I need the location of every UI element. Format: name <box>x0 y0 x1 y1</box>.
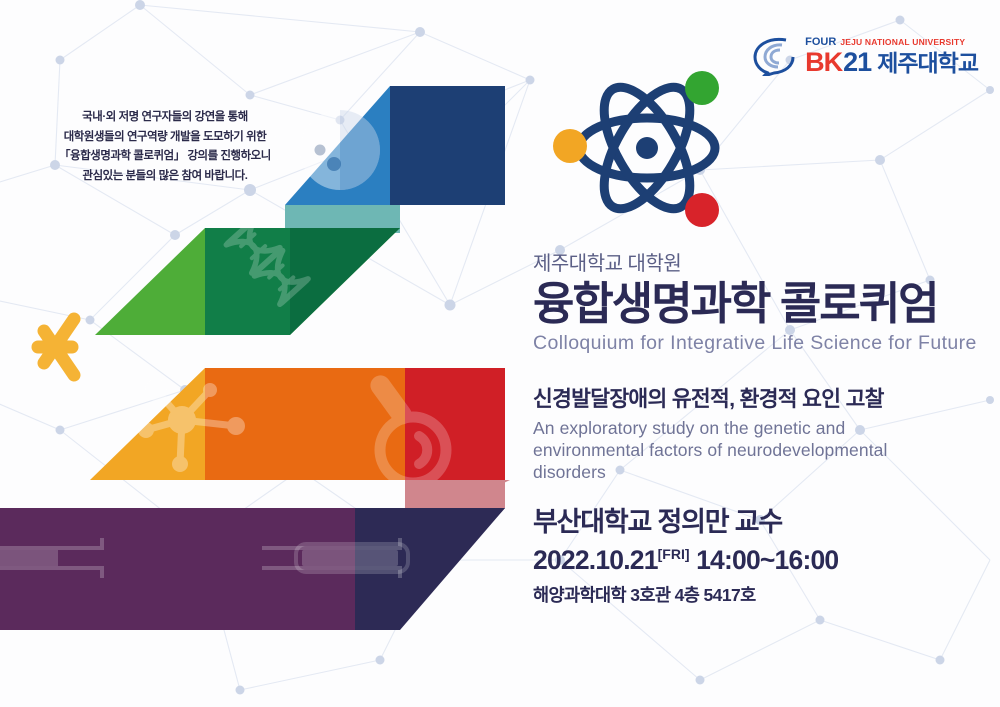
intro-paragraph: 국내·외 저명 연구자들의 강연을 통해 대학원생들의 연구역량 개발을 도모하… <box>34 108 296 186</box>
logo-bk-text: BK <box>805 49 842 76</box>
logo-21-text: 21 <box>843 49 871 76</box>
atom-nucleus <box>636 137 658 159</box>
poster-canvas: FOUR JEJU NATIONAL UNIVERSITY BK 21 제주대학… <box>0 0 1000 707</box>
topic-en-line-3: disorders <box>533 462 606 482</box>
atom-icon <box>552 58 742 238</box>
topic-en-line-1: An exploratory study on the genetic and <box>533 418 845 438</box>
page-title: 융합생명과학 콜로퀴엄 <box>533 279 995 329</box>
event-time: 14:00~16:00 <box>696 545 838 575</box>
blue-band <box>262 86 505 233</box>
topic-korean: 신경발달장애의 유전적, 환경적 요인 고찰 <box>533 386 995 414</box>
intro-line-3: 「융합생명과학 콜로퀴엄」 강의를 진행하오니 <box>34 147 296 167</box>
event-day-of-week: [FRI] <box>658 546 690 562</box>
green-electron <box>685 71 719 105</box>
intro-line-2: 대학원생들의 연구역량 개발을 도모하기 위한 <box>34 128 296 148</box>
intro-line-1: 국내·외 저명 연구자들의 강연을 통해 <box>34 108 296 128</box>
title-english: Colloquium for Integrative Life Science … <box>533 331 995 355</box>
logo-university-ko: 제주대학교 <box>877 51 978 75</box>
purple-band <box>0 508 505 630</box>
red-electron <box>685 193 719 227</box>
bk21-logo: FOUR JEJU NATIONAL UNIVERSITY BK 21 제주대학… <box>752 36 978 76</box>
orange-band <box>90 368 510 508</box>
logo-university-en: JEJU NATIONAL UNIVERSITY <box>840 38 965 47</box>
spark-icon <box>30 305 110 390</box>
green-band <box>95 219 400 335</box>
topic-en-line-2: environmental factors of neurodevelopmen… <box>533 440 888 460</box>
event-datetime: 2022.10.21[FRI] 14:00~16:00 <box>533 544 995 577</box>
yellow-electron <box>553 129 587 163</box>
event-venue: 해양과학대학 3호관 4층 5417호 <box>533 584 995 607</box>
content-column: 제주대학교 대학원 융합생명과학 콜로퀴엄 Colloquium for Int… <box>533 252 995 607</box>
organizer-label: 제주대학교 대학원 <box>533 252 995 277</box>
topic-english: An exploratory study on the genetic and … <box>533 417 995 484</box>
event-date: 2022.10.21 <box>533 545 658 575</box>
bk21-head-icon <box>752 36 796 76</box>
speaker-name: 부산대학교 정의만 교수 <box>533 506 995 538</box>
intro-line-4: 관심있는 분들의 많은 참여 바랍니다. <box>34 167 296 187</box>
